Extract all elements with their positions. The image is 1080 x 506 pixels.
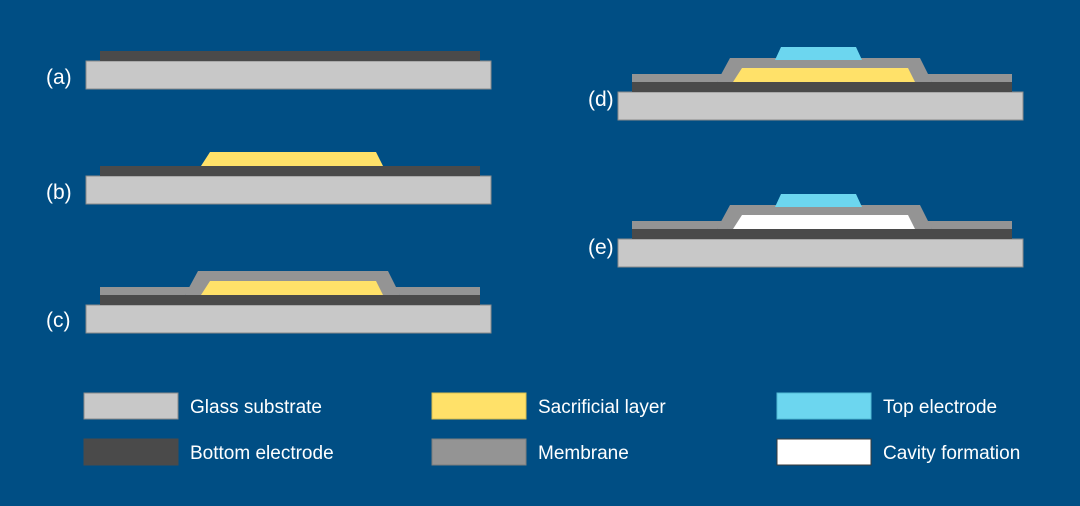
legend-label-glass-substrate: Glass substrate — [190, 397, 322, 418]
panel-label-a: (a) — [46, 66, 72, 89]
legend-label-sacrificial-layer: Sacrificial layer — [538, 397, 666, 418]
bottom-electrode-c — [100, 295, 480, 305]
cavity-e — [733, 215, 915, 229]
fabrication-process-diagram: (a)(b)(c)(d)(e) Glass substrateSacrifici… — [0, 0, 1080, 506]
legend-swatch-sacrificial-layer — [432, 393, 526, 419]
top-electrode-e — [775, 194, 862, 207]
legend-item-glass-substrate: Glass substrate — [84, 393, 322, 419]
glass-substrate-e — [618, 239, 1023, 267]
figure-canvas: (a)(b)(c)(d)(e) Glass substrateSacrifici… — [0, 0, 1080, 506]
bottom-electrode-a — [100, 51, 480, 61]
top-electrode-d — [775, 47, 862, 60]
panel-label-d: (d) — [588, 88, 614, 111]
legend-swatch-top-electrode — [777, 393, 871, 419]
bottom-electrode-e — [632, 229, 1012, 239]
legend-item-sacrificial-layer: Sacrificial layer — [432, 393, 666, 419]
legend-swatch-cavity-formation — [777, 439, 871, 465]
legend-label-top-electrode: Top electrode — [883, 397, 997, 418]
legend-label-cavity-formation: Cavity formation — [883, 443, 1020, 464]
panel-label-b: (b) — [46, 181, 72, 204]
glass-substrate-d — [618, 92, 1023, 120]
legend-item-bottom-electrode: Bottom electrode — [84, 439, 334, 465]
panel-label-e: (e) — [588, 236, 614, 259]
legend-label-bottom-electrode: Bottom electrode — [190, 443, 334, 464]
sacrificial-layer-d — [733, 68, 915, 82]
legend-swatch-membrane — [432, 439, 526, 465]
legend-item-top-electrode: Top electrode — [777, 393, 997, 419]
legend-item-cavity-formation: Cavity formation — [777, 439, 1020, 465]
bottom-electrode-d — [632, 82, 1012, 92]
sacrificial-layer-b — [201, 152, 383, 166]
panel-a: (a) — [46, 51, 491, 89]
glass-substrate-b — [86, 176, 491, 204]
glass-substrate-c — [86, 305, 491, 333]
bottom-electrode-b — [100, 166, 480, 176]
legend-swatch-glass-substrate — [84, 393, 178, 419]
glass-substrate-a — [86, 61, 491, 89]
legend-label-membrane: Membrane — [538, 443, 629, 464]
panel-label-c: (c) — [46, 309, 71, 332]
legend-swatch-bottom-electrode — [84, 439, 178, 465]
sacrificial-layer-c — [201, 281, 383, 295]
